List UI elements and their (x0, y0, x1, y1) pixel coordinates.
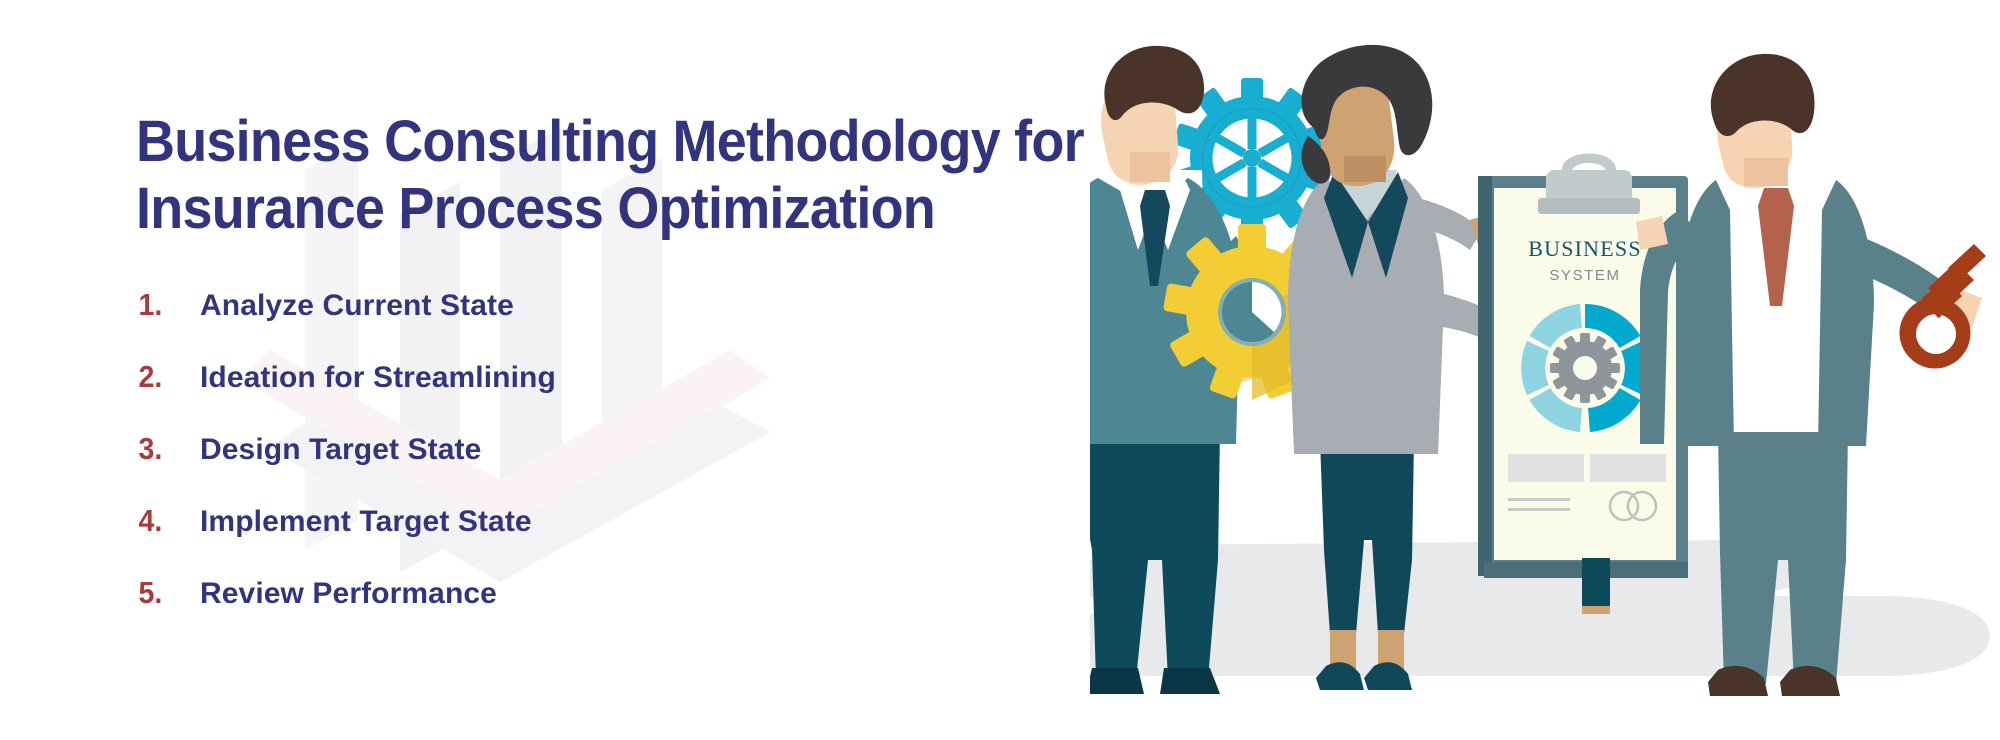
step-number: 5. (139, 575, 198, 611)
step-label: Analyze Current State (200, 289, 514, 323)
step-label: Ideation for Streamlining (200, 361, 556, 395)
page-title: Business Consulting Methodology for Insu… (136, 108, 1113, 243)
slide-canvas: Business Consulting Methodology for Insu… (0, 0, 2000, 740)
step-label: Implement Target State (200, 505, 532, 539)
clipboard-subtitle: SYSTEM (1549, 267, 1620, 284)
list-item: 3. Design Target State (136, 431, 1186, 503)
placeholder-block-right (1590, 454, 1666, 482)
placeholder-block-left (1508, 454, 1584, 482)
step-label: Design Target State (200, 433, 481, 467)
list-item: 5. Review Performance (136, 575, 1186, 647)
list-item: 2. Ideation for Streamlining (136, 359, 1186, 431)
text-column: Business Consulting Methodology for Insu… (136, 108, 1186, 647)
clipboard-title: BUSINESS (1528, 236, 1642, 261)
business-team-illustration: BUSINESS SYSTEM (1090, 40, 2000, 740)
step-label: Review Performance (200, 577, 497, 611)
step-number: 4. (139, 503, 198, 539)
placeholder-line (1508, 498, 1570, 501)
list-item: 1. Analyze Current State (136, 287, 1186, 359)
step-number: 1. (139, 287, 198, 323)
list-item: 4. Implement Target State (136, 503, 1186, 575)
clipboard-clip-icon (1538, 154, 1640, 215)
placeholder-line (1508, 508, 1570, 511)
clipboard-stand-leg (1582, 558, 1610, 612)
step-number: 2. (139, 359, 198, 395)
step-number: 3. (139, 431, 198, 467)
methodology-step-list: 1. Analyze Current State 2. Ideation for… (136, 287, 1186, 647)
